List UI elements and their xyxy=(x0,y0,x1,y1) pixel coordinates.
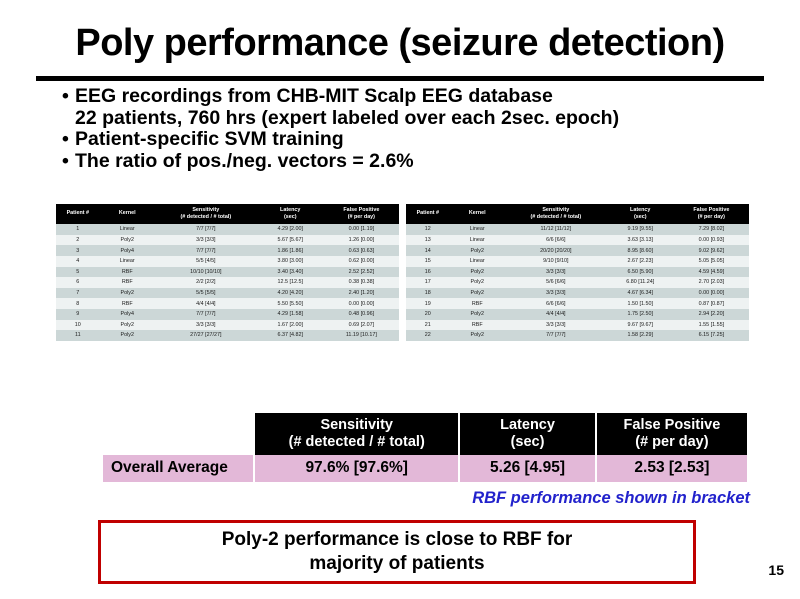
cell-false-positive: 5.05 [5.05] xyxy=(674,256,749,267)
cell-false-positive: 0.63 [0.63] xyxy=(324,245,399,256)
cell-patient: 8 xyxy=(56,298,100,309)
cell-patient: 13 xyxy=(406,235,450,246)
cell-false-positive: 0.00 [0.00] xyxy=(674,288,749,299)
cell-patient: 20 xyxy=(406,309,450,320)
cell-false-positive: 1.26 [0.00] xyxy=(324,235,399,246)
table-row: 15Linear9/10 [9/10]2.67 [2.23]5.05 [5.05… xyxy=(406,256,749,267)
patient-table-right: Patient #KernelSensitivity(# detected / … xyxy=(406,204,749,341)
cell-false-positive: 0.62 [0.00] xyxy=(324,256,399,267)
summary-header-line-1: Latency xyxy=(462,417,593,434)
conclusion-line-2: majority of patients xyxy=(222,552,573,576)
cell-latency: 8.95 [8.60] xyxy=(607,245,674,256)
cell-patient: 18 xyxy=(406,288,450,299)
cell-false-positive: 0.00 [0.00] xyxy=(324,298,399,309)
cell-sensitivity: 7/7 [7/7] xyxy=(155,309,257,320)
bullet-list: •EEG recordings from CHB-MIT Scalp EEG d… xyxy=(62,86,762,172)
summary-header-line-2: (sec) xyxy=(462,434,593,451)
column-header-line-2: (sec) xyxy=(608,214,673,221)
column-header-line-1: Sensitivity xyxy=(506,207,606,214)
cell-false-positive: 0.38 [0.38] xyxy=(324,277,399,288)
cell-kernel: Linear xyxy=(450,256,505,267)
bullet-text: EEG recordings from CHB-MIT Scalp EEG da… xyxy=(75,85,553,107)
bullet-text: Patient-specific SVM training xyxy=(75,128,344,150)
cell-sensitivity: 4/4 [4/4] xyxy=(505,309,607,320)
cell-kernel: Poly2 xyxy=(450,245,505,256)
column-header-line-1: False Positive xyxy=(675,207,748,214)
cell-kernel: Linear xyxy=(100,256,155,267)
conclusion-text: Poly-2 performance is close to RBF for m… xyxy=(222,528,573,576)
column-header: Kernel xyxy=(450,204,505,224)
column-header-line-2: (sec) xyxy=(258,214,323,221)
cell-latency: 1.50 [1.50] xyxy=(607,298,674,309)
table-row: 20Poly24/4 [4/4]1.75 [2.50]2.94 [2.20] xyxy=(406,309,749,320)
table-header-row: Patient #KernelSensitivity(# detected / … xyxy=(406,204,749,224)
cell-patient: 21 xyxy=(406,320,450,331)
cell-false-positive: 2.52 [2.52] xyxy=(324,267,399,278)
cell-kernel: Poly2 xyxy=(450,330,505,341)
summary-header-line-1: False Positive xyxy=(599,417,745,434)
cell-false-positive: 11.19 [10.17] xyxy=(324,330,399,341)
cell-latency: 4.29 [1.58] xyxy=(257,309,324,320)
table-row: 22Poly27/7 [7/7]1.58 [2.29]6.15 [7.25] xyxy=(406,330,749,341)
table-row: 21RBF3/3 [3/3]9.67 [9.67]1.55 [1.55] xyxy=(406,320,749,331)
cell-latency: 1.75 [2.50] xyxy=(607,309,674,320)
cell-sensitivity: 7/7 [7/7] xyxy=(505,330,607,341)
bullet-dot-icon: • xyxy=(62,129,75,151)
cell-sensitivity: 5/6 [6/6] xyxy=(505,277,607,288)
cell-patient: 5 xyxy=(56,267,100,278)
cell-kernel: Poly2 xyxy=(450,267,505,278)
cell-sensitivity: 3/3 [3/3] xyxy=(155,320,257,331)
page-title: Poly performance (seizure detection) xyxy=(0,22,800,65)
column-header-line-1: Kernel xyxy=(101,210,154,217)
column-header-line-1: Latency xyxy=(258,207,323,214)
cell-latency: 6.50 [5.90] xyxy=(607,267,674,278)
summary-latency-value: 5.26 [4.95] xyxy=(459,455,596,482)
bullet-text: 22 patients, 760 hrs (expert labeled ove… xyxy=(75,107,619,129)
cell-sensitivity: 5/5 [5/5] xyxy=(155,288,257,299)
table-row: 14Poly220/20 [20/20]8.95 [8.60]9.02 [9.6… xyxy=(406,245,749,256)
column-header-line-2: (# detected / # total) xyxy=(506,214,606,221)
column-header: Latency(sec) xyxy=(607,204,674,224)
cell-latency: 1.58 [2.29] xyxy=(607,330,674,341)
cell-false-positive: 0.00 [1.19] xyxy=(324,224,399,235)
bullet-dot-icon: • xyxy=(62,151,75,173)
column-header-line-1: Sensitivity xyxy=(156,207,256,214)
column-header: Patient # xyxy=(56,204,100,224)
cell-sensitivity: 7/7 [7/7] xyxy=(155,245,257,256)
cell-patient: 1 xyxy=(56,224,100,235)
table-row: 6RBF2/2 [2/2]12.5 [12.5]0.38 [0.38] xyxy=(56,277,399,288)
cell-latency: 1.86 [1.86] xyxy=(257,245,324,256)
cell-patient: 12 xyxy=(406,224,450,235)
cell-patient: 2 xyxy=(56,235,100,246)
cell-kernel: Poly2 xyxy=(100,288,155,299)
cell-sensitivity: 3/3 [3/3] xyxy=(505,267,607,278)
cell-false-positive: 6.15 [7.25] xyxy=(674,330,749,341)
cell-kernel: Linear xyxy=(100,224,155,235)
cell-kernel: RBF xyxy=(100,298,155,309)
cell-kernel: RBF xyxy=(450,320,505,331)
cell-latency: 6.37 [4.82] xyxy=(257,330,324,341)
summary-table: Sensitivity(# detected / # total)Latency… xyxy=(103,413,749,482)
cell-patient: 16 xyxy=(406,267,450,278)
summary-false-positive-value: 2.53 [2.53] xyxy=(596,455,748,482)
cell-sensitivity: 20/20 [20/20] xyxy=(505,245,607,256)
patient-table-left-body: 1Linear7/7 [7/7]4.29 [2.00]0.00 [1.19]2P… xyxy=(56,224,399,341)
cell-latency: 2.67 [2.23] xyxy=(607,256,674,267)
cell-sensitivity: 3/3 [3/3] xyxy=(155,235,257,246)
cell-false-positive: 4.59 [4.59] xyxy=(674,267,749,278)
cell-latency: 4.67 [6.34] xyxy=(607,288,674,299)
column-header-line-1: False Positive xyxy=(325,207,398,214)
cell-sensitivity: 6/6 [6/6] xyxy=(505,298,607,309)
cell-latency: 4.29 [2.00] xyxy=(257,224,324,235)
cell-kernel: Poly2 xyxy=(450,277,505,288)
cell-sensitivity: 27/27 [27/27] xyxy=(155,330,257,341)
cell-sensitivity: 6/6 [6/6] xyxy=(505,235,607,246)
cell-patient: 14 xyxy=(406,245,450,256)
cell-false-positive: 7.29 [8.02] xyxy=(674,224,749,235)
column-header-line-1: Patient # xyxy=(407,210,449,217)
cell-patient: 4 xyxy=(56,256,100,267)
summary-header-line-2: (# per day) xyxy=(599,434,745,451)
bullet-item: •The ratio of pos./neg. vectors = 2.6% xyxy=(62,151,762,173)
table-header-row: Patient #KernelSensitivity(# detected / … xyxy=(56,204,399,224)
page-number: 15 xyxy=(768,562,784,578)
summary-average-row: Overall Average97.6% [97.6%]5.26 [4.95]2… xyxy=(103,455,748,482)
patient-table-left: Patient #KernelSensitivity(# detected / … xyxy=(56,204,399,341)
cell-patient: 6 xyxy=(56,277,100,288)
summary-column-header: False Positive(# per day) xyxy=(596,413,748,455)
cell-sensitivity: 5/5 [4/5] xyxy=(155,256,257,267)
cell-sensitivity: 10/10 [10/10] xyxy=(155,267,257,278)
column-header: Patient # xyxy=(406,204,450,224)
summary-row-label: Overall Average xyxy=(103,455,254,482)
cell-kernel: RBF xyxy=(100,267,155,278)
bullet-item: •Patient-specific SVM training xyxy=(62,129,762,151)
column-header-line-2: (# detected / # total) xyxy=(156,214,256,221)
bullet-item: •EEG recordings from CHB-MIT Scalp EEG d… xyxy=(62,86,762,108)
column-header-line-1: Latency xyxy=(608,207,673,214)
cell-false-positive: 0.69 [2.07] xyxy=(324,320,399,331)
slide-canvas: Poly performance (seizure detection) •EE… xyxy=(0,0,800,599)
cell-latency: 9.67 [9.67] xyxy=(607,320,674,331)
summary-sensitivity-value: 97.6% [97.6%] xyxy=(254,455,459,482)
cell-false-positive: 0.00 [0.93] xyxy=(674,235,749,246)
cell-kernel: Linear xyxy=(450,224,505,235)
summary-header-row: Sensitivity(# detected / # total)Latency… xyxy=(103,413,748,455)
column-header: False Positive(# per day) xyxy=(324,204,399,224)
cell-sensitivity: 7/7 [7/7] xyxy=(155,224,257,235)
cell-patient: 17 xyxy=(406,277,450,288)
cell-kernel: Poly2 xyxy=(100,320,155,331)
cell-sensitivity: 3/3 [3/3] xyxy=(505,320,607,331)
cell-latency: 9.19 [9.55] xyxy=(607,224,674,235)
column-header-line-1: Patient # xyxy=(57,210,99,217)
table-row: 5RBF10/10 [10/10]3.40 [3.40]2.52 [2.52] xyxy=(56,267,399,278)
column-header-line-2: (# per day) xyxy=(675,214,748,221)
column-header: Sensitivity(# detected / # total) xyxy=(505,204,607,224)
cell-false-positive: 2.94 [2.20] xyxy=(674,309,749,320)
cell-latency: 5.50 [5.50] xyxy=(257,298,324,309)
cell-latency: 3.40 [3.40] xyxy=(257,267,324,278)
cell-patient: 7 xyxy=(56,288,100,299)
bracket-note: RBF performance shown in bracket xyxy=(472,489,750,508)
title-divider xyxy=(36,76,764,81)
cell-false-positive: 2.70 [2.03] xyxy=(674,277,749,288)
table-row: 1Linear7/7 [7/7]4.29 [2.00]0.00 [1.19] xyxy=(56,224,399,235)
column-header: Sensitivity(# detected / # total) xyxy=(155,204,257,224)
cell-patient: 22 xyxy=(406,330,450,341)
cell-sensitivity: 11/12 [11/12] xyxy=(505,224,607,235)
cell-false-positive: 2.40 [1.20] xyxy=(324,288,399,299)
patient-table-right-body: 12Linear11/12 [11/12]9.19 [9.55]7.29 [8.… xyxy=(406,224,749,341)
bullet-dot-icon: • xyxy=(62,86,75,108)
table-row: 19RBF6/6 [6/6]1.50 [1.50]0.87 [0.87] xyxy=(406,298,749,309)
table-row: 7Poly25/5 [5/5]4.20 [4.20]2.40 [1.20] xyxy=(56,288,399,299)
table-row: 9Poly47/7 [7/7]4.29 [1.58]0.48 [0.96] xyxy=(56,309,399,320)
column-header: Kernel xyxy=(100,204,155,224)
bullet-item-continuation: 22 patients, 760 hrs (expert labeled ove… xyxy=(62,108,762,130)
table-row: 8RBF4/4 [4/4]5.50 [5.50]0.00 [0.00] xyxy=(56,298,399,309)
table-row: 4Linear5/5 [4/5]3.80 [3.00]0.62 [0.00] xyxy=(56,256,399,267)
cell-patient: 10 xyxy=(56,320,100,331)
summary-column-header: Sensitivity(# detected / # total) xyxy=(254,413,459,455)
cell-kernel: Linear xyxy=(450,235,505,246)
column-header-line-2: (# per day) xyxy=(325,214,398,221)
cell-kernel: RBF xyxy=(100,277,155,288)
cell-kernel: Poly2 xyxy=(450,309,505,320)
cell-kernel: RBF xyxy=(450,298,505,309)
column-header: Latency(sec) xyxy=(257,204,324,224)
summary-header-spacer xyxy=(103,413,254,455)
cell-patient: 15 xyxy=(406,256,450,267)
cell-false-positive: 1.55 [1.55] xyxy=(674,320,749,331)
cell-latency: 3.80 [3.00] xyxy=(257,256,324,267)
table-row: 16Poly23/3 [3/3]6.50 [5.90]4.59 [4.59] xyxy=(406,267,749,278)
cell-sensitivity: 9/10 [9/10] xyxy=(505,256,607,267)
table-row: 3Poly47/7 [7/7]1.86 [1.86]0.63 [0.63] xyxy=(56,245,399,256)
table-row: 13Linear6/6 [6/6]3.63 [3.13]0.00 [0.93] xyxy=(406,235,749,246)
cell-false-positive: 9.02 [9.62] xyxy=(674,245,749,256)
cell-latency: 12.5 [12.5] xyxy=(257,277,324,288)
cell-kernel: Poly4 xyxy=(100,309,155,320)
cell-patient: 11 xyxy=(56,330,100,341)
cell-sensitivity: 2/2 [2/2] xyxy=(155,277,257,288)
cell-latency: 5.67 [5.67] xyxy=(257,235,324,246)
cell-kernel: Poly2 xyxy=(100,235,155,246)
column-header-line-1: Kernel xyxy=(451,210,504,217)
cell-patient: 3 xyxy=(56,245,100,256)
cell-kernel: Poly2 xyxy=(100,330,155,341)
summary-header-line-2: (# detected / # total) xyxy=(257,434,456,451)
cell-patient: 19 xyxy=(406,298,450,309)
summary-column-header: Latency(sec) xyxy=(459,413,596,455)
table-row: 10Poly23/3 [3/3]1.67 [2.00]0.69 [2.07] xyxy=(56,320,399,331)
table-row: 2Poly23/3 [3/3]5.67 [5.67]1.26 [0.00] xyxy=(56,235,399,246)
cell-latency: 4.20 [4.20] xyxy=(257,288,324,299)
cell-latency: 3.63 [3.13] xyxy=(607,235,674,246)
cell-latency: 1.67 [2.00] xyxy=(257,320,324,331)
table-row: 18Poly23/3 [3/3]4.67 [6.34]0.00 [0.00] xyxy=(406,288,749,299)
conclusion-line-1: Poly-2 performance is close to RBF for xyxy=(222,528,573,552)
cell-kernel: Poly2 xyxy=(450,288,505,299)
summary-header-line-1: Sensitivity xyxy=(257,417,456,434)
cell-latency: 6.80 [11.24] xyxy=(607,277,674,288)
cell-false-positive: 0.87 [0.87] xyxy=(674,298,749,309)
cell-sensitivity: 4/4 [4/4] xyxy=(155,298,257,309)
table-row: 12Linear11/12 [11/12]9.19 [9.55]7.29 [8.… xyxy=(406,224,749,235)
table-row: 11Poly227/27 [27/27]6.37 [4.82]11.19 [10… xyxy=(56,330,399,341)
bullet-text: The ratio of pos./neg. vectors = 2.6% xyxy=(75,150,414,172)
cell-false-positive: 0.48 [0.96] xyxy=(324,309,399,320)
table-row: 17Poly25/6 [6/6]6.80 [11.24]2.70 [2.03] xyxy=(406,277,749,288)
cell-patient: 9 xyxy=(56,309,100,320)
column-header: False Positive(# per day) xyxy=(674,204,749,224)
cell-kernel: Poly4 xyxy=(100,245,155,256)
conclusion-box: Poly-2 performance is close to RBF for m… xyxy=(98,520,696,584)
cell-sensitivity: 3/3 [3/3] xyxy=(505,288,607,299)
